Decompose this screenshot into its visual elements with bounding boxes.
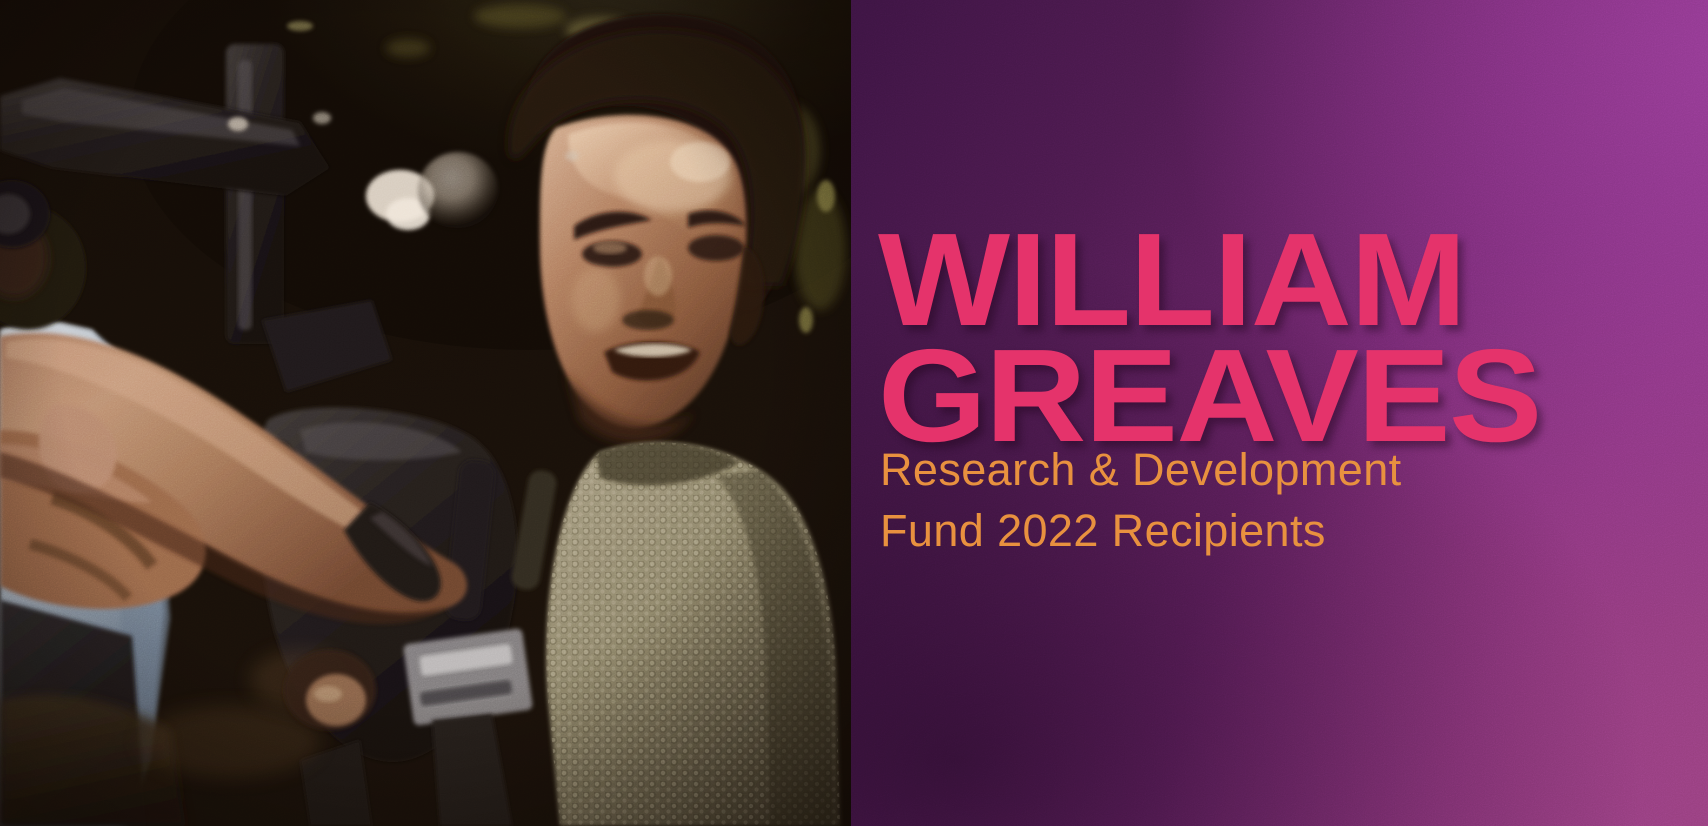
film-still-illustration bbox=[0, 0, 851, 826]
headline-line-1: WILLIAM bbox=[878, 224, 1708, 336]
subtitle-line-2: Fund 2022 Recipients bbox=[880, 501, 1700, 562]
title-panel: WILLIAM GREAVES Research & Development F… bbox=[851, 0, 1708, 826]
subtitle: Research & Development Fund 2022 Recipie… bbox=[880, 440, 1700, 562]
headline-line-2: GREAVES bbox=[878, 340, 1708, 452]
william-greaves-fund-banner: WILLIAM GREAVES Research & Development F… bbox=[0, 0, 1708, 826]
subtitle-line-1: Research & Development bbox=[880, 440, 1700, 501]
headline: WILLIAM GREAVES bbox=[878, 224, 1688, 452]
film-still-photo bbox=[0, 0, 851, 826]
